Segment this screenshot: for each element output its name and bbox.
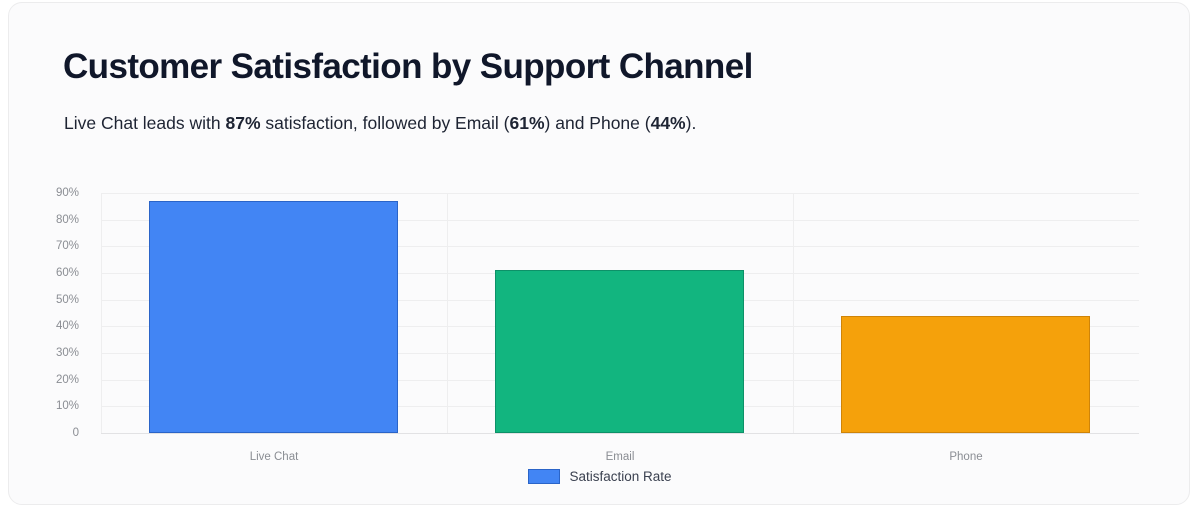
y-axis-tick-label: 60%: [33, 267, 79, 279]
y-axis-tick-label: 0: [33, 427, 79, 439]
subtitle-text: Live Chat leads with: [64, 113, 225, 133]
x-axis-label-phone: Phone: [949, 451, 982, 463]
subtitle-text: ).: [686, 113, 697, 133]
subtitle-highlight: 44%: [651, 113, 686, 133]
y-axis-tick-label: 90%: [33, 187, 79, 199]
page-title: Customer Satisfaction by Support Channel: [63, 47, 753, 87]
y-axis-tick-label: 70%: [33, 240, 79, 252]
y-axis-tick-label: 50%: [33, 294, 79, 306]
chart-legend: Satisfaction Rate: [9, 469, 1190, 484]
gridline: [101, 433, 1139, 434]
subtitle-highlight: 61%: [510, 113, 545, 133]
category-separator: [447, 193, 448, 433]
legend-label-satisfaction-rate: Satisfaction Rate: [569, 469, 671, 484]
bar-email[interactable]: [495, 270, 744, 433]
legend-swatch-satisfaction-rate: [528, 469, 560, 484]
gridline: [101, 193, 1139, 194]
x-axis-label-email: Email: [606, 451, 635, 463]
bar-phone[interactable]: [841, 316, 1090, 433]
chart-subtitle: Live Chat leads with 87% satisfaction, f…: [64, 113, 696, 134]
subtitle-highlight: 87%: [225, 113, 260, 133]
y-axis-tick-label: 10%: [33, 400, 79, 412]
chart-card: Customer Satisfaction by Support Channel…: [8, 2, 1190, 505]
bar-chart: 010%20%30%40%50%60%70%80%90%Live ChatEma…: [9, 181, 1190, 501]
subtitle-text: satisfaction, followed by Email (: [261, 113, 510, 133]
plot-area: 010%20%30%40%50%60%70%80%90%Live ChatEma…: [101, 193, 1139, 433]
y-axis-tick-label: 80%: [33, 214, 79, 226]
y-axis-tick-label: 40%: [33, 320, 79, 332]
subtitle-text: ) and Phone (: [545, 113, 651, 133]
x-axis-label-live-chat: Live Chat: [250, 451, 299, 463]
bar-live-chat[interactable]: [149, 201, 398, 433]
y-axis-tick-label: 30%: [33, 347, 79, 359]
category-separator: [793, 193, 794, 433]
category-separator: [101, 193, 102, 433]
y-axis-tick-label: 20%: [33, 374, 79, 386]
